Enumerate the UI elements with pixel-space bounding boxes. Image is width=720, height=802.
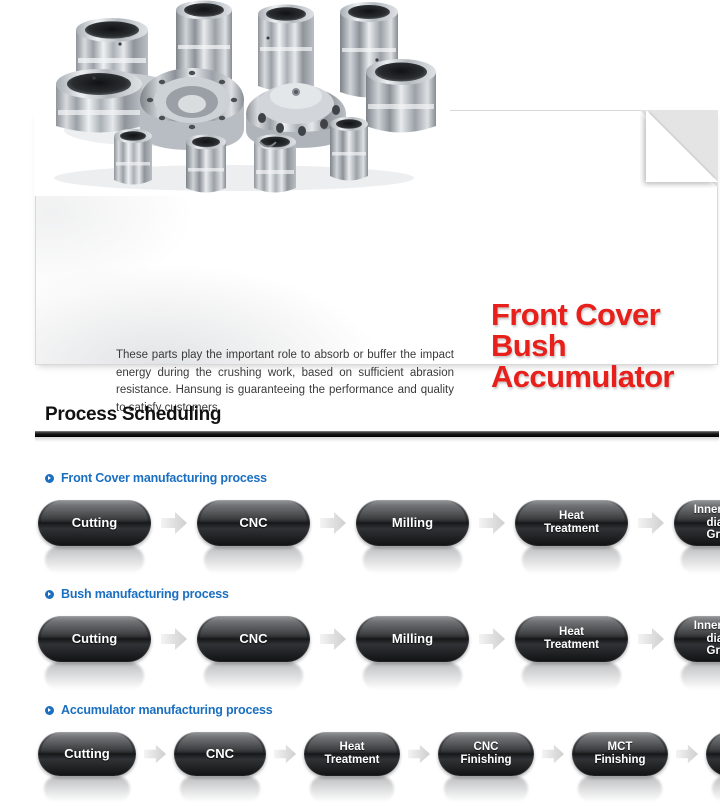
process-step[interactable]: HeatTreatment <box>304 732 400 776</box>
pill-reflection <box>712 776 720 802</box>
process-step-pill[interactable]: MCTFinishing <box>572 732 668 776</box>
arrow-right-icon <box>274 744 296 764</box>
process-step-label: Milling <box>384 516 441 531</box>
arrow-right-icon <box>479 628 505 650</box>
pill-reflection <box>681 546 720 574</box>
process-flow-2: CuttingCNCMillingHeatTreatmentInner & Ou… <box>38 616 720 662</box>
process-step[interactable]: Cutting <box>38 616 151 662</box>
process-step-label: CNC <box>231 632 275 647</box>
process-step-pill[interactable]: Milling <box>356 616 469 662</box>
bullet-arrow-icon <box>45 706 54 715</box>
bullet-arrow-icon <box>45 474 54 483</box>
pill-reflection <box>363 546 462 574</box>
process-flow-1: CuttingCNCMillingHeatTreatmentInner & Ou… <box>38 500 720 546</box>
process-group-heading-label: Bush manufacturing process <box>61 587 229 601</box>
process-step[interactable]: HeatTreatment <box>515 616 628 662</box>
arrow-right-icon <box>161 628 187 650</box>
process-step[interactable]: CNC <box>174 732 266 776</box>
process-group-heading-1: Front Cover manufacturing process <box>45 471 267 485</box>
process-step-pill[interactable]: HeatTreatment <box>515 616 628 662</box>
process-group-heading-2: Bush manufacturing process <box>45 587 229 601</box>
process-step-pill[interactable]: Milling <box>356 500 469 546</box>
process-step-label: HeatTreatment <box>536 510 607 536</box>
process-step-pill[interactable]: Inner & Outerdiameter Grinding <box>674 616 720 662</box>
process-step[interactable]: Milling <box>356 616 469 662</box>
process-step-label: CNCFinishing <box>452 741 519 767</box>
arrow-right-icon <box>676 744 698 764</box>
process-step-label: CNC <box>231 516 275 531</box>
process-step-label: Cutting <box>64 632 125 647</box>
process-step-pill[interactable]: CNC <box>197 616 310 662</box>
pill-reflection <box>45 546 144 574</box>
pill-reflection <box>522 662 621 690</box>
process-step[interactable]: MCTFinishing <box>572 732 668 776</box>
page-curl-icon <box>640 110 718 188</box>
hero-title: Front Cover Bush Accumulator <box>491 299 720 392</box>
process-step[interactable]: Milling <box>356 500 469 546</box>
process-step-label: HeatTreatment <box>317 741 388 767</box>
process-flow-3: CuttingCNCHeatTreatmentCNCFinishingMCTFi… <box>38 732 720 776</box>
process-step[interactable]: Cutting <box>38 500 151 546</box>
process-step-label: Cutting <box>64 516 125 531</box>
pill-gloss <box>709 733 720 752</box>
process-step[interactable]: HeatTreatment <box>515 500 628 546</box>
process-step-pill[interactable]: Inner & Outerdiameter Grinding <box>674 500 720 546</box>
arrow-right-icon <box>542 744 564 764</box>
process-step-label: Cutting <box>56 747 117 762</box>
process-step-label: HeatTreatment <box>536 626 607 652</box>
arrow-right-icon <box>320 512 346 534</box>
process-step[interactable]: Inner & Outerdiameter Grinding <box>674 500 720 546</box>
process-step-pill[interactable]: CNC <box>174 732 266 776</box>
section-divider-shadow <box>35 437 719 442</box>
process-step-label: MCTFinishing <box>586 741 653 767</box>
pill-reflection <box>204 546 303 574</box>
pill-reflection <box>180 776 261 802</box>
arrow-right-icon <box>144 744 166 764</box>
process-step-label: CNC <box>198 747 242 762</box>
process-group-heading-label: Front Cover manufacturing process <box>61 471 267 485</box>
product-photo <box>34 0 450 196</box>
process-step-label: Inner & Outerdiameter Grinding <box>674 504 720 543</box>
arrow-right-icon <box>638 512 664 534</box>
process-step-pill[interactable]: Cutting <box>38 732 136 776</box>
process-group-heading-3: Accumulator manufacturing process <box>45 703 273 717</box>
pill-reflection <box>45 662 144 690</box>
process-step[interactable]: Cutting <box>38 732 136 776</box>
hero-title-line-2: Bush <box>491 330 720 361</box>
pill-reflection <box>578 776 662 802</box>
arrow-right-icon <box>408 744 430 764</box>
arrow-right-icon <box>479 512 505 534</box>
process-step-pill[interactable]: CNC <box>197 500 310 546</box>
hero-title-line-3: Accumulator <box>491 361 720 392</box>
process-step-pill[interactable]: Cutting <box>38 500 151 546</box>
pill-reflection <box>444 776 528 802</box>
arrow-right-icon <box>638 628 664 650</box>
bullet-arrow-icon <box>45 590 54 599</box>
process-group-heading-label: Accumulator manufacturing process <box>61 703 273 717</box>
arrow-right-icon <box>161 512 187 534</box>
process-step[interactable]: CNC <box>197 616 310 662</box>
pill-reflection <box>204 662 303 690</box>
process-step[interactable]: CNCFinishing <box>438 732 534 776</box>
process-step-pill[interactable]: Lapping <box>706 732 720 776</box>
pill-reflection <box>310 776 394 802</box>
process-step[interactable]: Inner & Outerdiameter Grinding <box>674 616 720 662</box>
pill-reflection <box>522 546 621 574</box>
process-step-label: Inner & Outerdiameter Grinding <box>674 620 720 659</box>
process-step[interactable]: CNC <box>197 500 310 546</box>
process-step-pill[interactable]: HeatTreatment <box>515 500 628 546</box>
process-step-pill[interactable]: HeatTreatment <box>304 732 400 776</box>
process-step[interactable]: Lapping <box>706 732 720 776</box>
arrow-right-icon <box>320 628 346 650</box>
pill-reflection <box>44 776 130 802</box>
process-step-pill[interactable]: Cutting <box>38 616 151 662</box>
page-title: Process Scheduling <box>45 404 221 426</box>
pill-reflection <box>363 662 462 690</box>
process-step-pill[interactable]: CNCFinishing <box>438 732 534 776</box>
hero-title-line-1: Front Cover <box>491 299 720 330</box>
pill-reflection <box>681 662 720 690</box>
process-step-label: Milling <box>384 632 441 647</box>
